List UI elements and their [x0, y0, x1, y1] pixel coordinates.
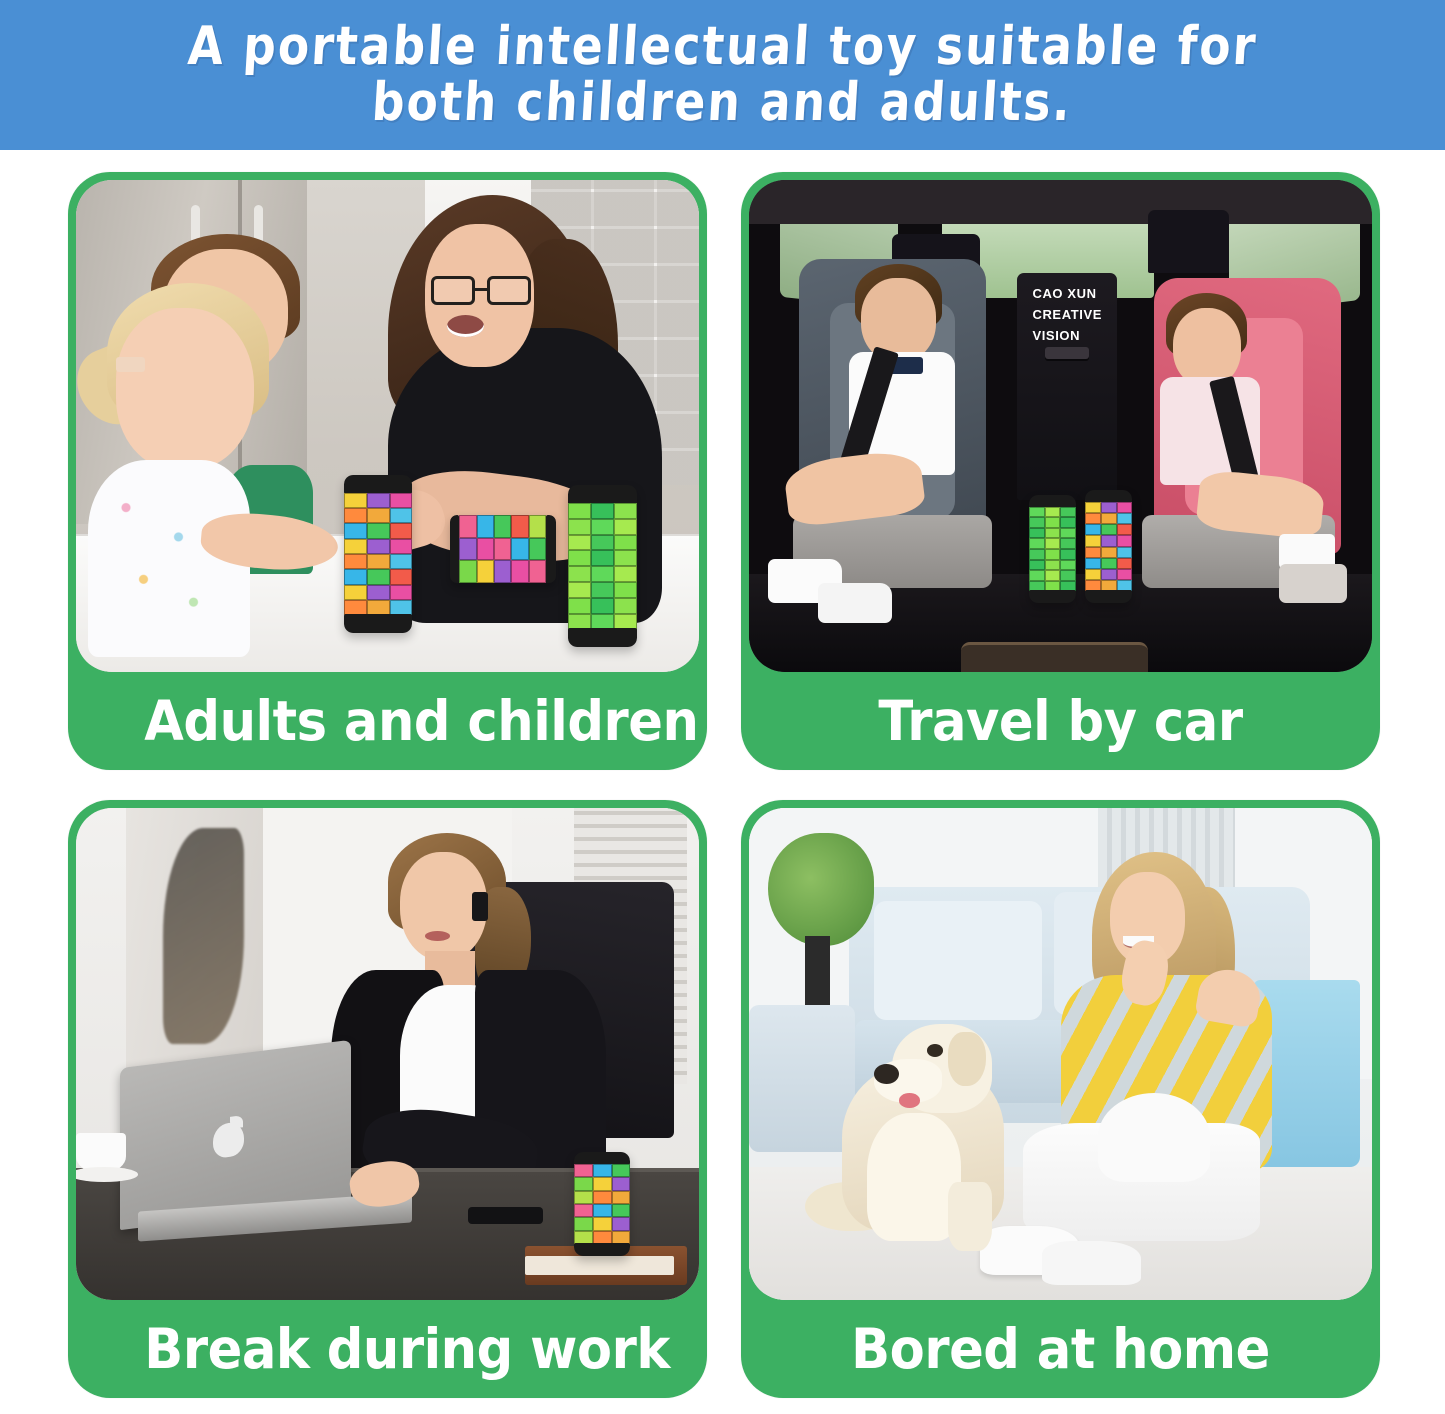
- card-travel-by-car: CAO XUN CREATIVE VISION: [741, 172, 1380, 770]
- brand-line-1: CAO XUN: [1032, 283, 1113, 304]
- card-adults-and-children: Adults and children: [68, 172, 707, 770]
- header-banner: A portable intellectual toy suitable for…: [0, 0, 1445, 150]
- photo-adults-and-children: [76, 180, 699, 672]
- card-break-during-work: Break during work: [68, 800, 707, 1398]
- card-bored-at-home: Bored at home: [741, 800, 1380, 1398]
- puzzle-toy: [344, 475, 413, 632]
- smartphone: [468, 1207, 543, 1224]
- puzzle-toy: [450, 515, 556, 584]
- caption-bored-at-home: Bored at home: [763, 1300, 1357, 1398]
- eyeglasses-icon: [431, 276, 531, 306]
- brand-line-3: VISION: [1032, 325, 1113, 346]
- feature-cards-grid: Adults and children CAO XUN CREATIVE VIS…: [68, 172, 1380, 1398]
- puzzle-toy: [574, 1152, 630, 1255]
- earbud-icon: [472, 892, 488, 922]
- caption-travel-by-car: Travel by car: [763, 672, 1357, 770]
- puzzle-toy: [568, 485, 637, 647]
- photo-travel-by-car: CAO XUN CREATIVE VISION: [749, 180, 1372, 672]
- caption-adults-and-children: Adults and children: [90, 672, 684, 770]
- caption-break-during-work: Break during work: [90, 1300, 684, 1398]
- brand-line-2: CREATIVE: [1032, 304, 1113, 325]
- headline-line-2: both children and adults.: [371, 75, 1074, 131]
- puzzle-toy: [1085, 490, 1132, 603]
- photo-break-during-work: [76, 808, 699, 1300]
- car-seat-brand-text: CAO XUN CREATIVE VISION: [1032, 283, 1113, 346]
- puzzle-toy: [1029, 495, 1076, 603]
- photo-bored-at-home: [749, 808, 1372, 1300]
- headline-line-1: A portable intellectual toy suitable for: [186, 19, 1259, 75]
- potted-plant: [768, 833, 874, 946]
